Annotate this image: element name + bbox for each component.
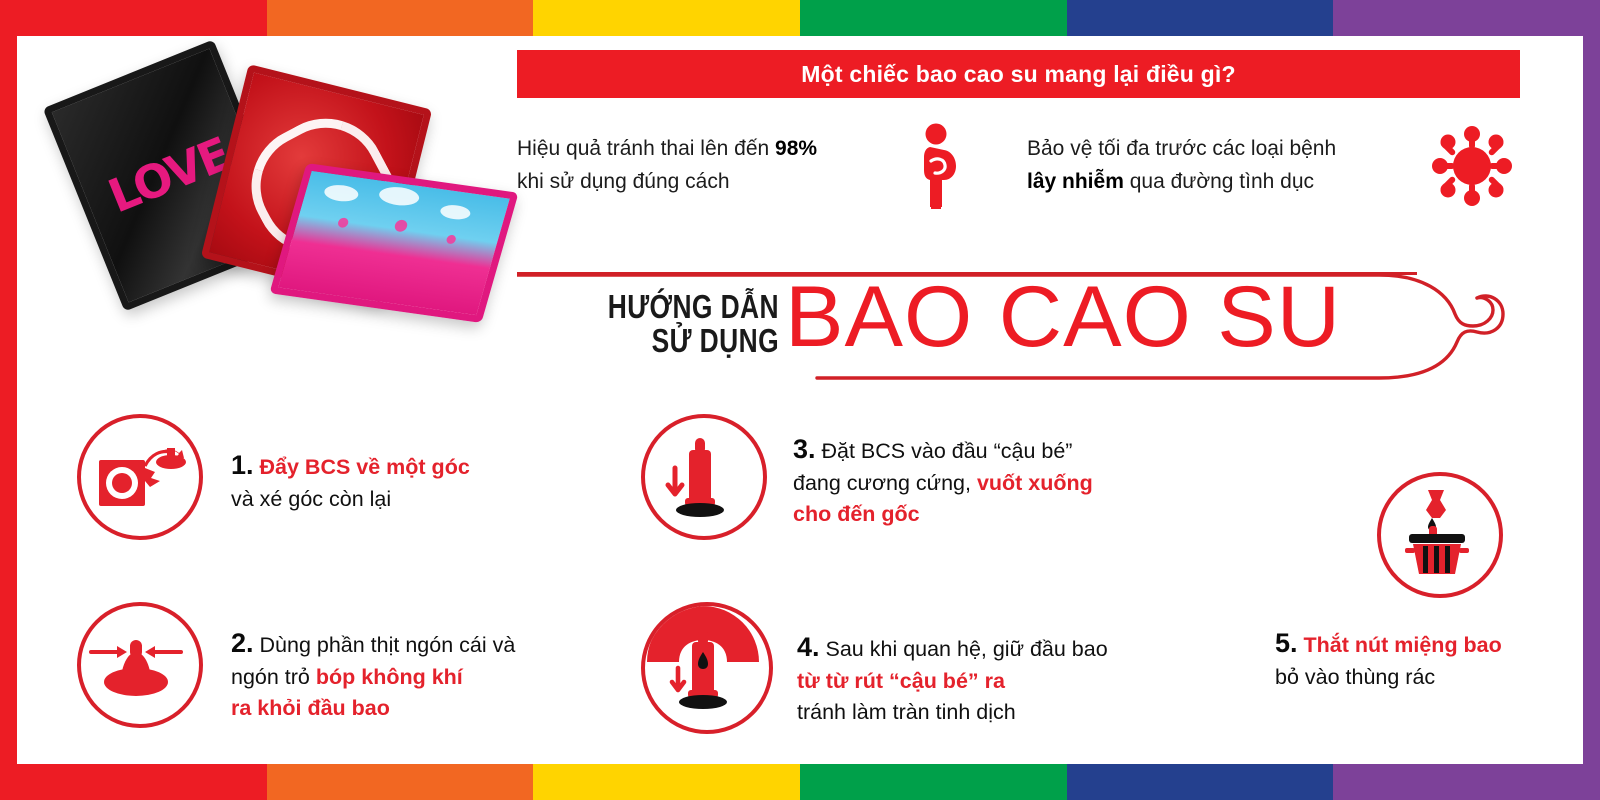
fact-contraception-text: Hiệu quả tránh thai lên đến 98% khi sử d… <box>517 133 897 198</box>
step-5: 5. Thắt nút miệng bao bỏ vào thùng rác <box>1275 472 1600 693</box>
step-3-c: vuốt xuống <box>977 471 1093 495</box>
step-4-number: 4. <box>797 632 820 662</box>
step-4-text: 4. Sau khi quan hệ, giữ đầu bao từ từ rú… <box>797 628 1177 727</box>
step-4-b: từ từ rút “cậu bé” ra <box>797 669 1005 693</box>
step-1-number: 1. <box>231 450 254 480</box>
step-2: 2. Dùng phần thịt ngón cái và ngón trỏ b… <box>77 602 561 728</box>
step-2-a: Dùng phần thịt ngón cái và <box>254 633 516 657</box>
title-line-2: SỬ DỤNG <box>579 324 779 358</box>
step-5-rest: bỏ vào thùng rác <box>1275 665 1435 689</box>
title-primary: BAO CAO SU <box>785 274 1341 360</box>
step-3-number: 3. <box>793 434 816 464</box>
facts-row: Hiệu quả tránh thai lên đến 98% khi sử d… <box>517 118 1527 214</box>
step-2-d: ra khỏi đầu bao <box>231 696 390 720</box>
fact-contraception: Hiệu quả tránh thai lên đến 98% khi sử d… <box>517 118 1013 214</box>
fact1-percent: 98% <box>775 137 817 160</box>
roll-down-condom-icon <box>641 414 767 540</box>
rainbow-stripe-bottom <box>0 764 1600 800</box>
title-line-1: HƯỚNG DẪN <box>579 290 779 324</box>
step-1: 1. Đẩy BCS về một góc và xé góc còn lại <box>77 414 541 540</box>
step-2-b: ngón trỏ <box>231 665 316 689</box>
step-3-b: đang cương cứng, <box>793 471 977 495</box>
condom-packets-photo: LOVE <box>57 56 487 336</box>
fact1-line2: khi sử dụng đúng cách <box>517 170 730 193</box>
fact-sti-text: Bảo vệ tối đa trước các loại bệnh lây nh… <box>1027 133 1417 198</box>
step-3: 3. Đặt BCS vào đầu “cậu bé” đang cương c… <box>641 414 1163 540</box>
knot-and-trash-icon <box>1377 472 1503 598</box>
step-2-c: bóp không khí <box>316 665 463 689</box>
rainbow-stripe-top <box>0 0 1600 36</box>
step-2-text: 2. Dùng phần thịt ngón cái và ngón trỏ b… <box>231 624 561 723</box>
fact2-bold: lây nhiễm <box>1027 170 1124 193</box>
step-4-c: tránh làm tràn tinh dịch <box>797 700 1016 724</box>
hold-base-withdraw-icon <box>641 602 773 734</box>
fact1-line1-pre: Hiệu quả tránh thai lên đến <box>517 137 775 160</box>
pinch-tip-icon <box>77 602 203 728</box>
step-3-d: cho đến gốc <box>793 502 920 526</box>
step-4: 4. Sau khi quan hệ, giữ đầu bao từ từ rú… <box>641 602 1177 734</box>
step-1-rest: và xé góc còn lại <box>231 487 391 511</box>
virus-icon <box>1417 125 1527 207</box>
header-banner: Một chiếc bao cao su mang lại điều gì? <box>517 50 1520 98</box>
infographic-poster: LOVE Một chiếc bao cao su mang lại điều … <box>0 0 1600 800</box>
step-5-highlight: Thắt nút miệng bao <box>1298 633 1502 657</box>
content-canvas: LOVE Một chiếc bao cao su mang lại điều … <box>17 36 1583 764</box>
step-1-text: 1. Đẩy BCS về một góc và xé góc còn lại <box>231 446 541 515</box>
step-5-text: 5. Thắt nút miệng bao bỏ vào thùng rác <box>1275 624 1600 693</box>
left-edge-band <box>0 0 17 800</box>
step-5-number: 5. <box>1275 628 1298 658</box>
step-2-number: 2. <box>231 628 254 658</box>
fact2-line1: Bảo vệ tối đa trước các loại bệnh <box>1027 137 1336 160</box>
condom-packet-tear-icon <box>77 414 203 540</box>
step-4-a: Sau khi quan hệ, giữ đầu bao <box>820 637 1108 661</box>
banner-title: Một chiếc bao cao su mang lại điều gì? <box>801 61 1235 88</box>
pregnant-woman-icon <box>897 123 977 209</box>
fact2-line2-post: qua đường tình dục <box>1124 170 1314 193</box>
main-title-block: HƯỚNG DẪN SỬ DỤNG BAO CAO SU <box>517 284 1527 384</box>
packet-blue <box>269 163 518 323</box>
step-1-highlight: Đẩy BCS về một góc <box>254 455 470 479</box>
fact-sti-protection: Bảo vệ tối đa trước các loại bệnh lây nh… <box>1013 118 1527 214</box>
step-3-text: 3. Đặt BCS vào đầu “cậu bé” đang cương c… <box>793 430 1163 529</box>
title-secondary: HƯỚNG DẪN SỬ DỤNG <box>579 290 779 357</box>
step-3-a: Đặt BCS vào đầu “cậu bé” <box>816 439 1073 463</box>
